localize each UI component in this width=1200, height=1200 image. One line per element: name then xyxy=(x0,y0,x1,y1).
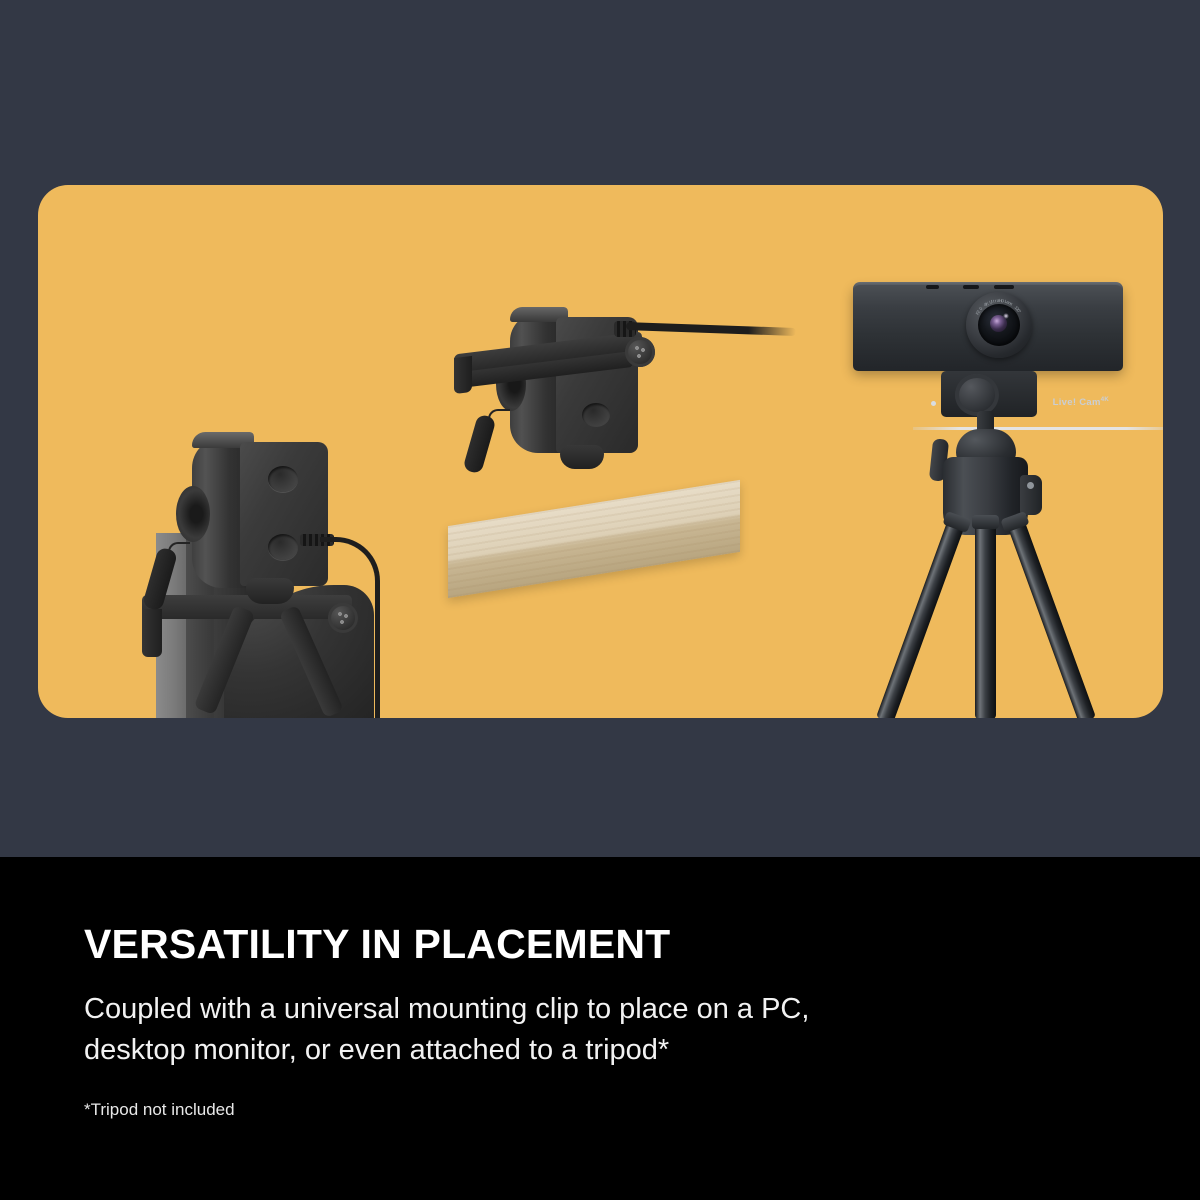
hero-section: Live! Cam4K F2.0 4K UltraHD Lens 120° xyxy=(0,0,1200,857)
webcam-swivel-neck xyxy=(560,445,604,469)
webcam-top-button-2[interactable] xyxy=(963,285,979,289)
webcam-back-plate xyxy=(240,442,328,586)
webcam-vent-hole-bottom xyxy=(268,534,298,560)
mounting-clip-hook xyxy=(454,356,472,394)
model-name-text: Live! Cam xyxy=(1053,397,1101,408)
webcam-accent-stripe xyxy=(913,427,1163,430)
tripod-leg-right xyxy=(1007,518,1096,718)
tripod-head-lock-knob[interactable] xyxy=(1020,475,1042,515)
footnote-text: *Tripod not included xyxy=(84,1100,235,1120)
webcam-side-view xyxy=(178,430,338,610)
body-copy: Coupled with a universal mounting clip t… xyxy=(84,989,984,1071)
privacy-shutter xyxy=(462,414,496,475)
webcam-top-button-1[interactable] xyxy=(926,285,939,289)
tripod-leg-collar-center xyxy=(972,515,999,529)
webcam-swivel-neck xyxy=(246,578,294,604)
mounting-clip-hook xyxy=(142,609,162,657)
usb-cable xyxy=(320,537,380,718)
tripod-leg-center xyxy=(975,521,996,718)
scene-webcam-clipped-to-pc-monitor xyxy=(38,185,418,718)
copy-section: VERSATILITY IN PLACEMENT Coupled with a … xyxy=(0,857,1200,1200)
body-copy-line-1: Coupled with a universal mounting clip t… xyxy=(84,993,809,1025)
scene-webcam-mounted-on-tripod: Live! Cam4K F2.0 4K UltraHD Lens 120° xyxy=(798,185,1163,718)
body-copy-line-2: desktop monitor, or even attached to a t… xyxy=(84,1030,984,1071)
model-suffix-text: 4K xyxy=(1101,397,1109,403)
tripod-thread-socket-icon xyxy=(625,337,655,367)
tripod-leg-left xyxy=(876,518,965,718)
webcam-lens xyxy=(176,486,210,542)
product-model-label: Live! Cam4K xyxy=(1053,397,1109,408)
webcam-top-button-3[interactable] xyxy=(994,285,1014,289)
webcam-vent-hole-top xyxy=(268,466,298,492)
webcam-vent-hole-bottom xyxy=(582,403,610,427)
status-led-indicator xyxy=(931,401,936,406)
marketing-banner-page: Live! Cam4K F2.0 4K UltraHD Lens 120° xyxy=(0,0,1200,1200)
scene-webcam-standing-on-desk xyxy=(428,185,758,718)
product-placement-photo-panel: Live! Cam4K F2.0 4K UltraHD Lens 120° xyxy=(38,185,1163,718)
webcam-lens xyxy=(978,304,1020,346)
tripod-plate-dial[interactable] xyxy=(955,374,999,416)
page-title: VERSATILITY IN PLACEMENT xyxy=(84,923,670,966)
